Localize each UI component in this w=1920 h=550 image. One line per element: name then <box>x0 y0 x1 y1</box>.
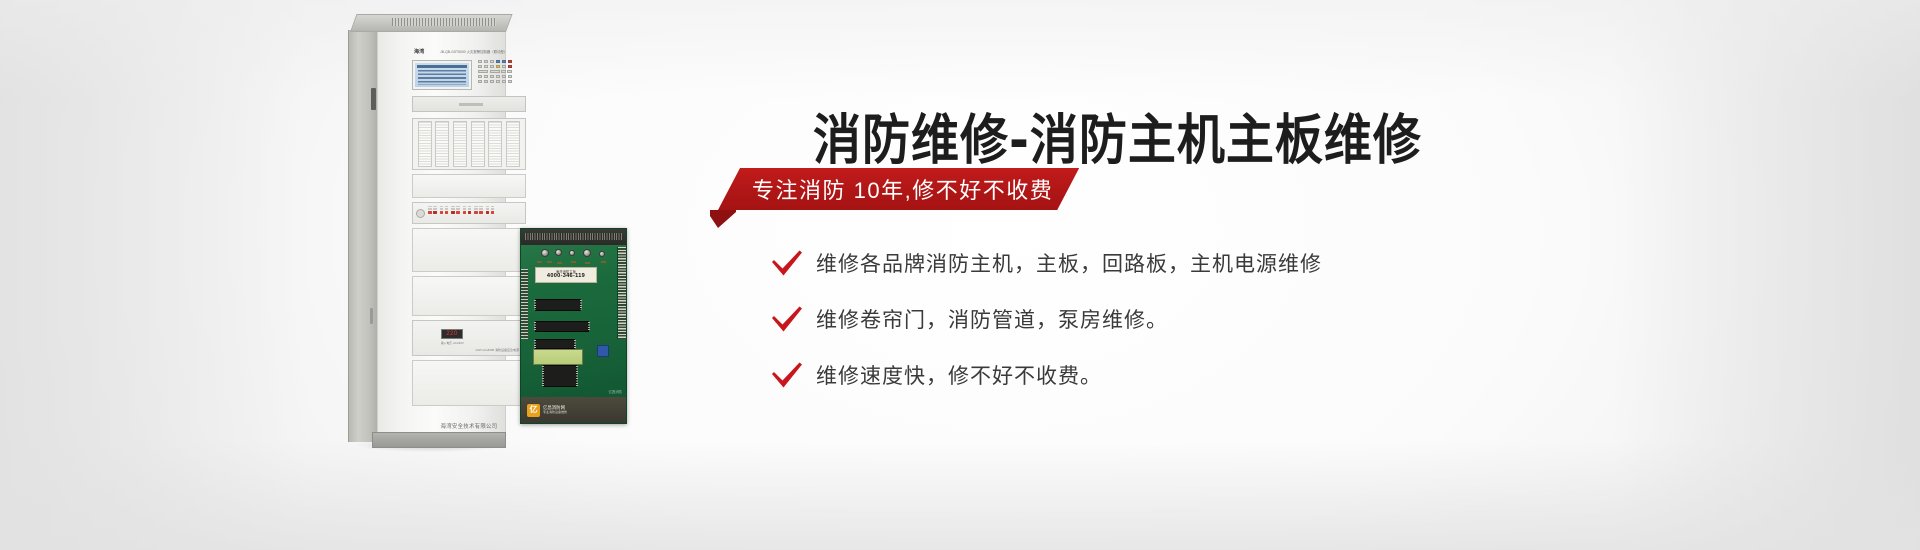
cabinet-blank-panel <box>412 360 526 406</box>
cabinet-lcd-screen <box>412 60 472 90</box>
keypad-key <box>508 75 512 78</box>
indicator-led-row <box>428 211 437 214</box>
list-item: 维修卷帘门，消防管道，泵房维修。 <box>770 294 1770 344</box>
pcb-service-sticker: 海湾消防主板 4000-346-119 <box>535 267 597 283</box>
keypad-key <box>478 70 488 73</box>
pcb-sticker-line2: 4000-346-119 <box>547 274 585 280</box>
pcb-brand-line2: 专业消防设备维修 <box>543 411 567 415</box>
check-icon <box>770 305 816 333</box>
keypad-row <box>478 70 526 73</box>
pcb-resistor <box>571 261 576 263</box>
cabinet-lcd-inner <box>415 63 469 87</box>
cabinet-keypad <box>478 60 526 94</box>
keypad-row <box>478 65 526 68</box>
keypad-key <box>478 80 482 83</box>
pcb-capacitor <box>583 249 591 257</box>
keypad-key <box>502 80 506 83</box>
keypad-key <box>502 75 506 78</box>
pcb-resistor <box>585 262 590 264</box>
indicator-label-row <box>451 206 460 207</box>
pcb-capacitor <box>555 249 562 256</box>
check-icon <box>770 249 816 277</box>
banner-content: 消防维修-消防主机主板维修 专注消防 10年,修不好不收费 维修各品牌消防主机，… <box>660 0 1920 550</box>
cabinet-module-column <box>506 121 520 167</box>
indicator-label-row <box>428 206 437 207</box>
pcb-brand-logo-icon: 亿 <box>527 404 540 417</box>
cabinet-indicator-panel <box>412 202 526 224</box>
pcb-brand-text: 亿昌消防网 专业消防设备维修 <box>543 405 567 414</box>
keypad-key <box>490 80 494 83</box>
keypad-key <box>496 60 500 63</box>
list-item-label: 维修各品牌消防主机，主板，回路板，主机电源维修 <box>816 248 1322 278</box>
keypad-key <box>484 80 488 83</box>
keypad-key <box>478 65 482 68</box>
service-list: 维修各品牌消防主机，主板，回路板，主机电源维修 维修卷帘门，消防管道，泵房维修。… <box>770 238 1770 406</box>
pcb-blue-potentiometer <box>597 345 609 357</box>
cabinet-blank-panel <box>412 276 526 316</box>
pcb-capacitor <box>541 249 549 257</box>
fire-control-mainboard-image: 海湾消防主板 4000-346-119 亿昌消防 亿 亿昌消防网 专业消防设备维… <box>520 228 627 424</box>
pcb-watermark-text: 亿昌消防 <box>608 389 622 394</box>
keypad-key <box>508 80 512 83</box>
cabinet-module-column <box>453 121 467 167</box>
pcb-ic-chip <box>535 299 581 311</box>
cabinet-model-text: JB-QB-GST5000 火灾报警控制器（联动型） <box>440 49 507 54</box>
cabinet-printer-tray <box>412 96 526 112</box>
indicator-label-row <box>440 206 449 207</box>
keypad-key <box>507 70 511 73</box>
pcb-left-edge-connector <box>521 269 528 339</box>
list-item-label: 维修速度快，修不好不收费。 <box>816 360 1102 390</box>
keypad-key <box>501 70 505 73</box>
cabinet-side-panel <box>348 30 378 442</box>
keypad-key <box>508 65 512 68</box>
indicator-group <box>440 206 449 214</box>
indicator-led-row <box>463 211 472 214</box>
indicator-group <box>474 206 483 214</box>
pcb-right-edge-connector <box>617 247 626 339</box>
pcb-brand-footer: 亿 亿昌消防网 专业消防设备维修 <box>521 397 626 423</box>
fire-repair-banner: 海湾 JB-QB-GST5000 火灾报警控制器（联动型） <box>0 0 1920 550</box>
keypad-key <box>478 60 482 63</box>
cabinet-module-column <box>435 121 449 167</box>
keypad-row <box>478 60 526 63</box>
cabinet-front-panel: 海湾 JB-QB-GST5000 火灾报警控制器（联动型） <box>377 24 506 444</box>
page-title: 消防维修-消防主机主板维修 <box>813 96 1422 174</box>
keypad-key <box>484 65 488 68</box>
pcb-lcd-module <box>533 349 583 365</box>
cabinet-module-column <box>488 121 502 167</box>
indicator-led-row <box>474 211 483 214</box>
indicator-label-row <box>474 208 483 209</box>
indicator-label-row <box>463 206 472 207</box>
indicator-group <box>451 206 460 214</box>
keypad-key <box>496 75 500 78</box>
pcb-resistor <box>557 262 562 264</box>
pcb-resistor <box>547 261 552 263</box>
pcb-ic-chip <box>535 321 589 332</box>
fire-alarm-control-cabinet-image: 海湾 JB-QB-GST5000 火灾报警控制器（联动型） <box>348 14 506 448</box>
promo-ribbon-text: 专注消防 10年,修不好不收费 <box>752 173 1053 205</box>
keypad-key <box>490 60 494 63</box>
cabinet-power-supply-panel: 220 输入电压 AC220V GST-LD-8305 消防设备应急电源 <box>412 320 526 356</box>
pcb-ic-chip <box>543 365 577 387</box>
list-item: 维修各品牌消防主机，主板，回路板，主机电源维修 <box>770 238 1770 288</box>
indicator-label-row <box>440 208 449 209</box>
cabinet-module-bank <box>412 118 526 170</box>
indicator-label-row <box>486 206 495 207</box>
pcb-resistor <box>601 261 606 263</box>
indicator-group <box>428 206 437 214</box>
cabinet-module-column <box>471 121 485 167</box>
promo-ribbon: 专注消防 10年,修不好不收费 <box>718 168 1079 210</box>
keypad-key <box>502 60 506 63</box>
keypad-key <box>484 75 488 78</box>
pcb-top-connector <box>521 229 626 245</box>
promo-ribbon-tail <box>710 210 736 228</box>
indicator-label-row <box>463 208 472 209</box>
cabinet-footer-text: 海湾安全技术有限公司 <box>412 422 526 430</box>
keypad-key <box>490 75 494 78</box>
cabinet-blank-panel <box>412 174 526 198</box>
cabinet-brand-logo: 海湾 <box>414 48 425 55</box>
keypad-row <box>478 75 526 78</box>
keypad-row <box>478 80 526 83</box>
indicator-led-row <box>486 211 495 214</box>
keypad-key <box>496 80 500 83</box>
indicator-label-row <box>451 208 460 209</box>
check-icon <box>770 361 816 389</box>
cabinet-voltage-value: 220 <box>446 331 458 337</box>
indicator-group <box>463 206 472 214</box>
keypad-key <box>508 60 512 63</box>
list-item: 维修速度快，修不好不收费。 <box>770 350 1770 400</box>
pcb-ic-chip <box>535 339 575 349</box>
keypad-key <box>502 65 506 68</box>
keypad-key <box>490 65 494 68</box>
pcb-capacitor <box>569 250 575 256</box>
cabinet-vent-grille <box>392 18 496 26</box>
indicator-label-row <box>428 208 437 209</box>
cabinet-panel-caption: GST-LD-8305 消防设备应急电源 <box>476 348 519 352</box>
keypad-key <box>478 75 482 78</box>
pcb-capacitor <box>599 251 605 257</box>
cabinet-module-column <box>418 121 432 167</box>
keypad-key <box>484 60 488 63</box>
cabinet-rotary-knob-icon <box>416 209 425 218</box>
cabinet-base-plinth <box>372 432 506 448</box>
cabinet-lock-icon <box>370 308 373 324</box>
indicator-label-row <box>474 206 483 207</box>
cabinet-lcd-text-rows <box>418 70 466 85</box>
indicator-group <box>486 206 495 214</box>
cabinet-voltage-label: 输入电压 AC220V <box>441 341 464 345</box>
indicator-led-row <box>440 211 449 214</box>
cabinet-blank-panel <box>412 228 526 272</box>
indicator-led-row <box>451 211 460 214</box>
list-item-label: 维修卷帘门，消防管道，泵房维修。 <box>816 304 1168 334</box>
indicator-label-row <box>486 208 495 209</box>
pcb-resistor <box>537 261 542 263</box>
cabinet-voltage-display: 220 <box>441 329 463 339</box>
keypad-key <box>490 70 500 73</box>
cabinet-brand-row: 海湾 JB-QB-GST5000 火灾报警控制器（联动型） <box>414 48 502 56</box>
cabinet-indicator-groups <box>428 206 522 214</box>
keypad-key <box>496 65 500 68</box>
